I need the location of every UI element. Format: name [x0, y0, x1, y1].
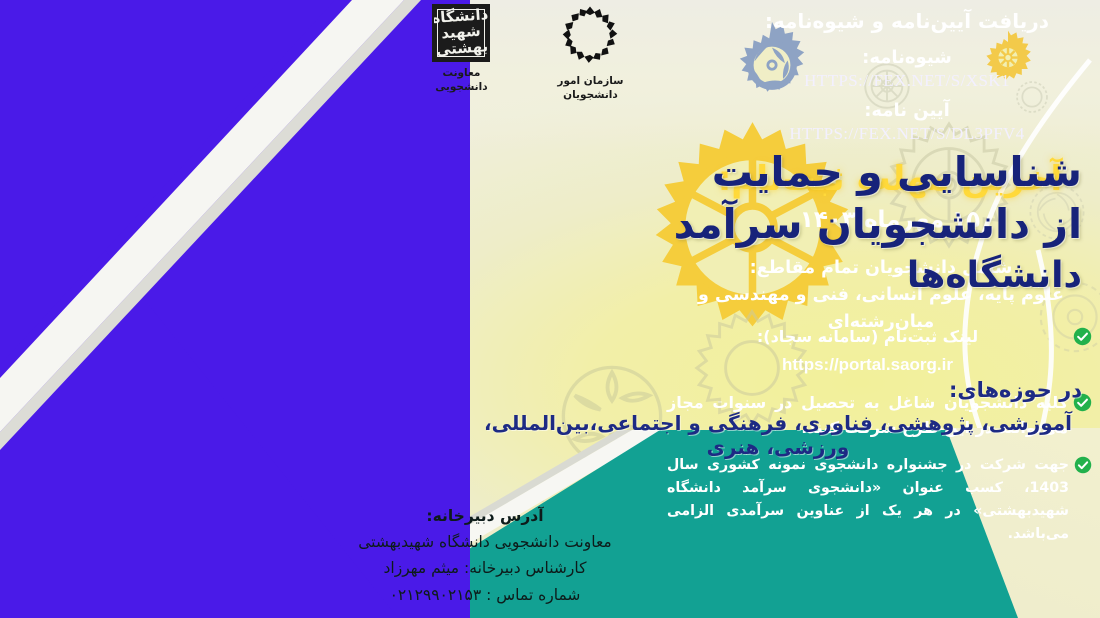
sbu-logo: دانشگاه شهید بهشتی معاونت دانشجویی	[418, 4, 505, 94]
documents-links-block: دریافت آیین‌نامه و شیوه‌نامه: شیوه‌نامه:…	[722, 6, 1092, 144]
check-circle-icon	[1074, 456, 1092, 478]
bullet-text-main: لینک ثبت‌نام (سامانه سجاد):	[757, 327, 978, 346]
secretariat-title: آدرس دبیرخانه:	[285, 503, 685, 529]
list-item: جهت شرکت در جشنواره دانشجوی نمونه کشوری …	[667, 454, 1092, 546]
headline-line-2: از دانشجویان سرآمد	[572, 198, 1082, 250]
secretariat-contact-person: کارشناس دبیرخانه: میثم مهرزاد	[285, 555, 685, 581]
logo-row: دانشگاه شهید بهشتی معاونت دانشجویی	[418, 4, 648, 116]
check-circle-icon	[1073, 327, 1092, 350]
sbu-logo-glyph: دانشگاه شهید بهشتی	[433, 4, 491, 62]
sbu-logo-mark-icon: دانشگاه شهید بهشتی	[432, 4, 490, 62]
secretariat-address: معاونت دانشجویی دانشگاه شهیدبهشتی	[285, 529, 685, 555]
bullet-text: لینک ثبت‌نام (سامانه سجاد): https://port…	[667, 325, 1068, 378]
areas-list: آموزشی، پژوهشی، فناوری، فرهنگی و اجتماعی…	[468, 411, 1088, 459]
guideline-label: شیوه‌نامه:	[722, 47, 1092, 68]
secretariat-phone: شماره تماس : ۰۲۱۲۹۹۰۲۱۵۳	[285, 582, 685, 608]
regulation-label: آیین نامه:	[722, 100, 1092, 121]
areas-block: در حوزه‌های: آموزشی، پژوهشی، فناوری، فره…	[468, 378, 1088, 459]
headline-line-3: دانشگاه‌ها	[572, 253, 1082, 299]
sao-logo-starburst-icon	[559, 4, 621, 66]
poster-canvas: دانشگاه شهید بهشتی معاونت دانشجویی	[0, 0, 1100, 618]
sao-logo: سازمان امور دانشجویان	[533, 4, 648, 102]
headline-line-1: شناسایی و حمایت	[572, 146, 1082, 198]
areas-label: در حوزه‌های:	[468, 378, 1088, 402]
regulation-url[interactable]: HTTPS://FEX.NET/S/DL3PFV4	[722, 124, 1092, 144]
sao-logo-caption: سازمان امور دانشجویان	[533, 75, 648, 102]
headline-block: شناسایی و حمایت از دانشجویان سرآمد دانشگ…	[572, 146, 1082, 299]
sbu-logo-caption: معاونت دانشجویی	[418, 67, 505, 94]
list-item: لینک ثبت‌نام (سامانه سجاد): https://port…	[667, 325, 1092, 378]
guideline-url[interactable]: HTTPS://FEX.NET/S/XSK1	[722, 71, 1092, 91]
secretariat-block: آدرس دبیرخانه: معاونت دانشجویی دانشگاه ش…	[285, 503, 685, 608]
documents-heading: دریافت آیین‌نامه و شیوه‌نامه:	[722, 6, 1092, 38]
bullet-text: جهت شرکت در جشنواره دانشجوی نمونه کشوری …	[667, 454, 1069, 546]
registration-url[interactable]: https://portal.saorg.ir	[667, 352, 1068, 378]
